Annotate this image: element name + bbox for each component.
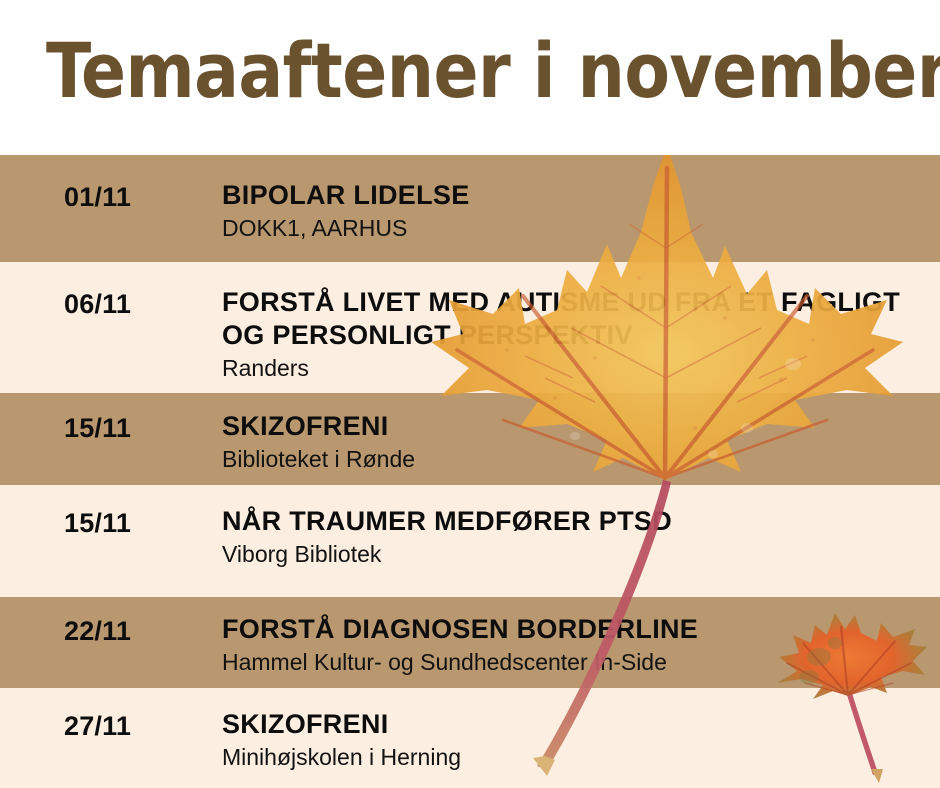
event-row[interactable]: 15/11 SKIZOFRENI Biblioteket i Rønde — [0, 393, 940, 485]
page-title: Temaaftener i november — [46, 26, 940, 115]
poster-canvas: Temaaftener i november 01/11 BIPOLAR LID… — [0, 0, 940, 788]
event-row[interactable]: 27/11 SKIZOFRENI Minihøjskolen i Herning — [0, 688, 940, 788]
event-heading: FORSTÅ DIAGNOSEN BORDERLINE — [222, 613, 930, 646]
event-heading: NÅR TRAUMER MEDFØRER PTSD — [222, 505, 930, 538]
event-date: 22/11 — [64, 616, 131, 647]
event-row[interactable]: 22/11 FORSTÅ DIAGNOSEN BORDERLINE Hammel… — [0, 597, 940, 688]
event-heading: SKIZOFRENI — [222, 410, 930, 443]
event-venue: Biblioteket i Rønde — [222, 445, 930, 474]
event-body: SKIZOFRENI Minihøjskolen i Herning — [222, 708, 930, 772]
title-band: Temaaftener i november — [0, 0, 940, 155]
event-heading: FORSTÅ LIVET MED AUTISME UD FRA ET FAGLI… — [222, 286, 930, 352]
event-date: 06/11 — [64, 289, 131, 320]
event-body: FORSTÅ LIVET MED AUTISME UD FRA ET FAGLI… — [222, 286, 930, 383]
event-venue: Minihøjskolen i Herning — [222, 743, 930, 772]
event-list: 01/11 BIPOLAR LIDELSE DOKK1, AARHUS 06/1… — [0, 155, 940, 788]
event-venue: Viborg Bibliotek — [222, 540, 930, 569]
event-venue: Randers — [222, 354, 930, 383]
event-venue: Hammel Kultur- og Sundhedscenter In-Side — [222, 648, 930, 677]
event-row[interactable]: 01/11 BIPOLAR LIDELSE DOKK1, AARHUS — [0, 155, 940, 262]
event-body: FORSTÅ DIAGNOSEN BORDERLINE Hammel Kultu… — [222, 613, 930, 677]
event-date: 01/11 — [64, 182, 131, 213]
event-venue: DOKK1, AARHUS — [222, 214, 930, 243]
event-row[interactable]: 15/11 NÅR TRAUMER MEDFØRER PTSD Viborg B… — [0, 485, 940, 597]
event-date: 15/11 — [64, 413, 131, 444]
event-row[interactable]: 06/11 FORSTÅ LIVET MED AUTISME UD FRA ET… — [0, 262, 940, 393]
event-heading: SKIZOFRENI — [222, 708, 930, 741]
event-body: NÅR TRAUMER MEDFØRER PTSD Viborg Bibliot… — [222, 505, 930, 569]
event-date: 15/11 — [64, 508, 131, 539]
event-body: SKIZOFRENI Biblioteket i Rønde — [222, 410, 930, 474]
event-body: BIPOLAR LIDELSE DOKK1, AARHUS — [222, 179, 930, 243]
event-heading: BIPOLAR LIDELSE — [222, 179, 930, 212]
event-date: 27/11 — [64, 711, 131, 742]
